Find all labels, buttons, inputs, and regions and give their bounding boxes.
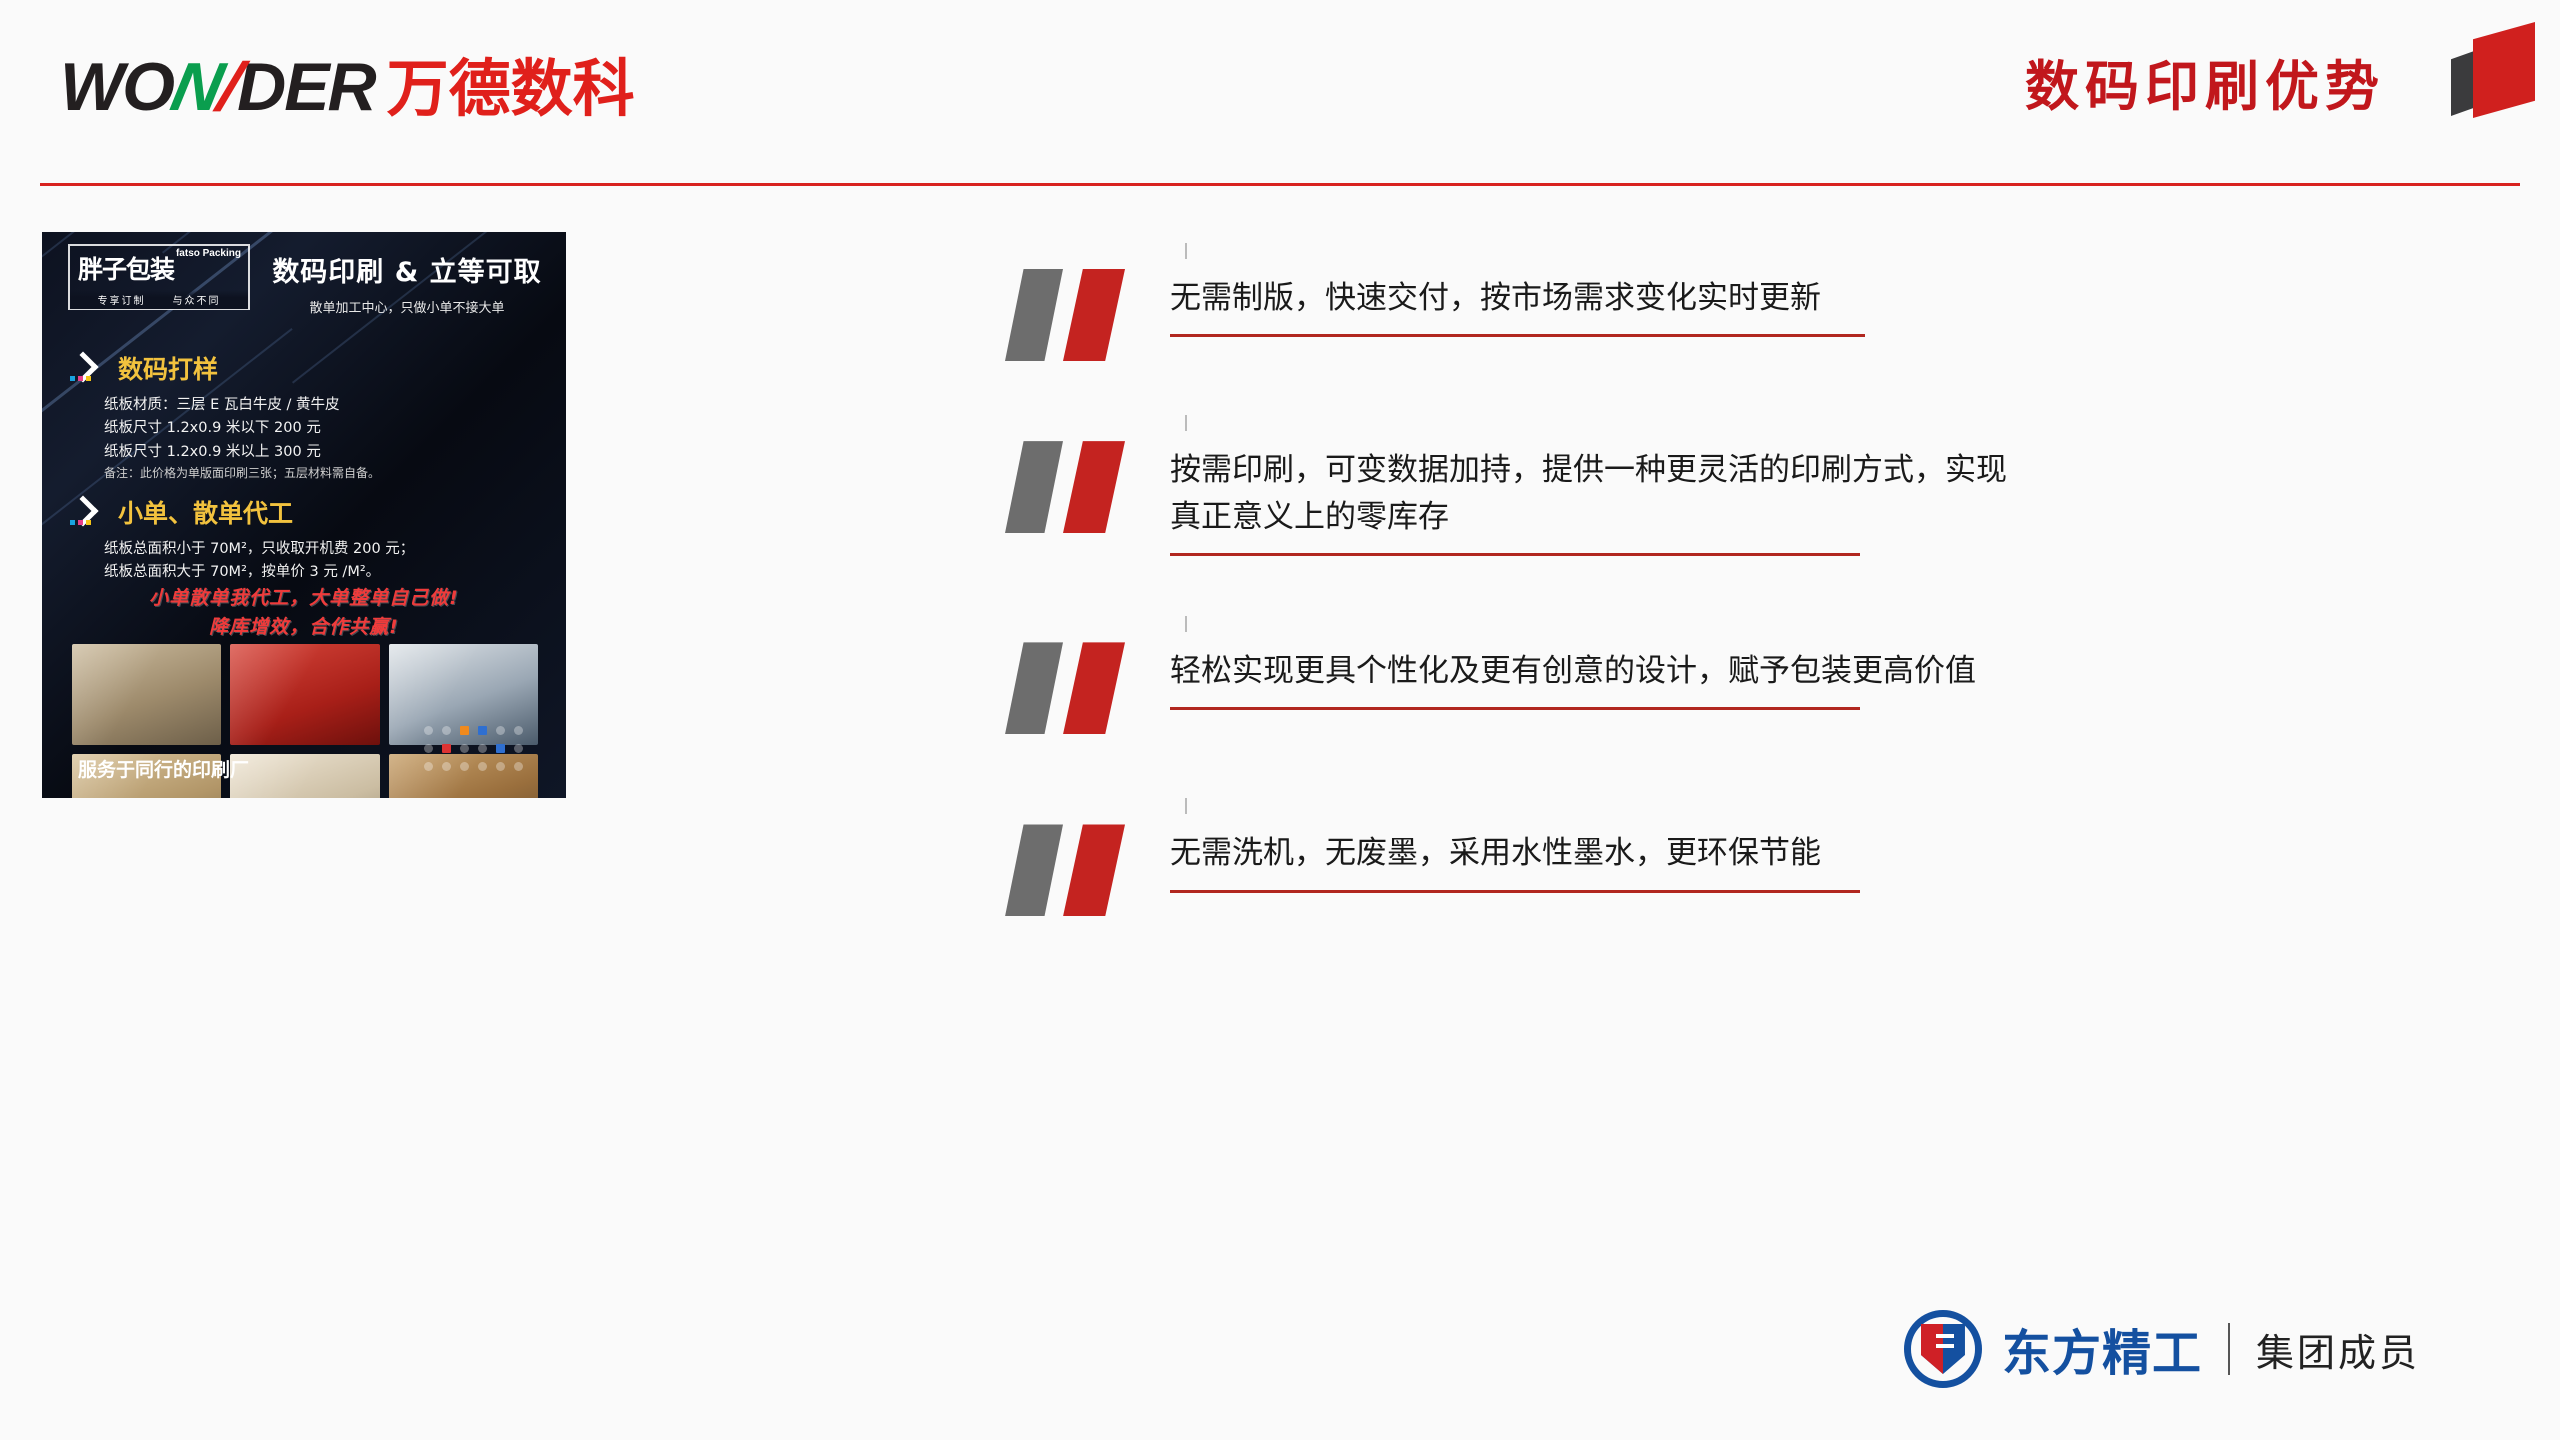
advantage-underline bbox=[1170, 334, 1865, 337]
marker-red-stripe bbox=[1063, 824, 1125, 916]
advantage-item-2: 按需印刷，可变数据加持，提供一种更灵活的印刷方式，实现真正意义上的零库存 bbox=[1005, 447, 2505, 556]
marker-gray-stripe bbox=[1005, 824, 1063, 916]
advantage-body: 按需印刷，可变数据加持，提供一种更灵活的印刷方式，实现真正意义上的零库存 bbox=[1170, 447, 2505, 556]
poster-section-digital-proofing: 数码打样 纸板材质：三层 E 瓦白牛皮 / 黄牛皮 纸板尺寸 1.2x0.9 米… bbox=[70, 350, 540, 484]
poster-headline-block: 数码印刷 & 立等可取 散单加工中心，只做小单不接大单 bbox=[262, 250, 552, 316]
logo-part-der: DER bbox=[237, 48, 375, 126]
poster-slogan-line-1: 小单散单我代工，大单整单自己做! bbox=[42, 584, 566, 613]
logo-chinese-name: 万德数科 bbox=[387, 38, 635, 128]
tick-mark bbox=[1185, 798, 1187, 814]
poster-section-header: 小单、散单代工 bbox=[70, 494, 540, 530]
wonder-brand-logo: WON/DER万德数科 bbox=[60, 38, 635, 128]
corner-decoration-icon bbox=[2447, 8, 2552, 118]
chevron-marker-icon bbox=[1005, 269, 1155, 361]
poster-section-b-title: 小单、散单代工 bbox=[118, 494, 293, 530]
footer-company-name: 东方精工 bbox=[2002, 1314, 2202, 1385]
product-thumbnail bbox=[72, 644, 221, 745]
marker-gray-stripe bbox=[1005, 642, 1063, 734]
poster-line: 纸板总面积大于 70M²，按单价 3 元 /M²。 bbox=[104, 561, 540, 584]
tick-mark bbox=[1185, 243, 1187, 259]
badge-f-mark bbox=[1936, 1334, 1954, 1338]
poster-logo-english: fatso Packing bbox=[176, 248, 241, 259]
marker-gray-stripe bbox=[1005, 441, 1063, 533]
dongfang-badge-icon bbox=[1904, 1310, 1982, 1388]
product-thumbnail bbox=[230, 644, 379, 745]
poster-section-small-orders: 小单、散单代工 纸板总面积小于 70M²，只收取开机费 200 元； 纸板总面积… bbox=[70, 494, 540, 585]
poster-note: 备注：此价格为单版面印刷三张；五层材料需自备。 bbox=[104, 464, 540, 483]
poster-section-b-lines: 纸板总面积小于 70M²，只收取开机费 200 元； 纸板总面积大于 70M²，… bbox=[70, 538, 540, 585]
chevron-marker-icon bbox=[1005, 642, 1155, 734]
advantage-text: 无需洗机，无废墨，采用水性墨水，更环保节能 bbox=[1170, 830, 2505, 889]
poster-section-header: 数码打样 bbox=[70, 350, 540, 386]
poster-slogan: 小单散单我代工，大单整单自己做! 降库增效，合作共赢! bbox=[42, 584, 566, 641]
poster-logo-tagline-right: 与众不同 bbox=[173, 292, 221, 307]
marker-red-stripe bbox=[1063, 269, 1125, 361]
advantage-item-1: 无需制版，快速交付，按市场需求变化实时更新 bbox=[1005, 275, 2505, 337]
poster-line: 纸板尺寸 1.2x0.9 米以上 300 元 bbox=[104, 441, 540, 464]
advantage-text: 按需印刷，可变数据加持，提供一种更灵活的印刷方式，实现真正意义上的零库存 bbox=[1170, 447, 2030, 553]
advantage-underline bbox=[1170, 553, 1860, 556]
poster-dot-pattern bbox=[424, 726, 552, 788]
advantages-list: 无需制版，快速交付，按市场需求变化实时更新 按需印刷，可变数据加持，提供一种更灵… bbox=[1005, 275, 2505, 893]
poster-headline: 数码印刷 & 立等可取 bbox=[262, 250, 552, 289]
poster-section-a-title: 数码打样 bbox=[118, 350, 218, 386]
promo-poster-image: 胖子包装 fatso Packing 专享订制 与众不同 数码印刷 & 立等可取… bbox=[42, 232, 566, 798]
poster-line: 纸板总面积小于 70M²，只收取开机费 200 元； bbox=[104, 538, 540, 561]
poster-logo-tagline-left: 专享订制 bbox=[98, 292, 146, 307]
chevron-marker-icon bbox=[1005, 824, 1155, 916]
tick-mark bbox=[1185, 415, 1187, 431]
poster-brand-logo: 胖子包装 fatso Packing 专享订制 与众不同 bbox=[68, 244, 250, 310]
marker-red-stripe bbox=[1063, 642, 1125, 734]
footer-company-logo: 东方精工 集团成员 bbox=[1904, 1310, 2420, 1388]
poster-slogan-line-2: 降库增效，合作共赢! bbox=[42, 613, 566, 642]
advantage-item-4: 无需洗机，无废墨，采用水性墨水，更环保节能 bbox=[1005, 830, 2505, 892]
advantage-body: 无需洗机，无废墨，采用水性墨水，更环保节能 bbox=[1170, 830, 2505, 892]
poster-logo-taglines: 专享订制 与众不同 bbox=[70, 290, 248, 309]
logo-part-wo: WO bbox=[60, 48, 173, 126]
poster-section-a-lines: 纸板材质：三层 E 瓦白牛皮 / 黄牛皮 纸板尺寸 1.2x0.9 米以下 20… bbox=[70, 394, 540, 484]
poster-footer-text: 服务于同行的印刷厂 bbox=[78, 755, 249, 782]
tick-mark bbox=[1185, 616, 1187, 632]
corner-red-shape bbox=[2473, 22, 2535, 118]
poster-line: 纸板尺寸 1.2x0.9 米以下 200 元 bbox=[104, 417, 540, 440]
advantage-item-3: 轻松实现更具个性化及更有创意的设计，赋予包装更高价值 bbox=[1005, 648, 2505, 710]
marker-red-stripe bbox=[1063, 441, 1125, 533]
page-title: 数码印刷优势 bbox=[2025, 42, 2385, 121]
footer-member-label: 集团成员 bbox=[2256, 1322, 2420, 1377]
advantage-body: 无需制版，快速交付，按市场需求变化实时更新 bbox=[1170, 275, 2505, 337]
poster-subheadline: 散单加工中心，只做小单不接大单 bbox=[262, 297, 552, 316]
advantage-underline bbox=[1170, 890, 1860, 893]
advantage-body: 轻松实现更具个性化及更有创意的设计，赋予包装更高价值 bbox=[1170, 648, 2505, 710]
chevron-marker-icon bbox=[1005, 441, 1155, 533]
marker-gray-stripe bbox=[1005, 269, 1063, 361]
advantage-text: 轻松实现更具个性化及更有创意的设计，赋予包装更高价值 bbox=[1170, 648, 2505, 707]
chevron-right-icon bbox=[70, 355, 108, 381]
chevron-right-icon bbox=[70, 499, 108, 525]
footer-divider bbox=[2228, 1323, 2230, 1375]
header-divider bbox=[40, 183, 2520, 186]
slide-header: WON/DER万德数科 数码印刷优势 bbox=[0, 0, 2560, 185]
poster-line: 纸板材质：三层 E 瓦白牛皮 / 黄牛皮 bbox=[104, 394, 540, 417]
product-thumbnail bbox=[230, 754, 379, 798]
advantage-text: 无需制版，快速交付，按市场需求变化实时更新 bbox=[1170, 275, 2505, 334]
advantage-underline bbox=[1170, 707, 1860, 710]
